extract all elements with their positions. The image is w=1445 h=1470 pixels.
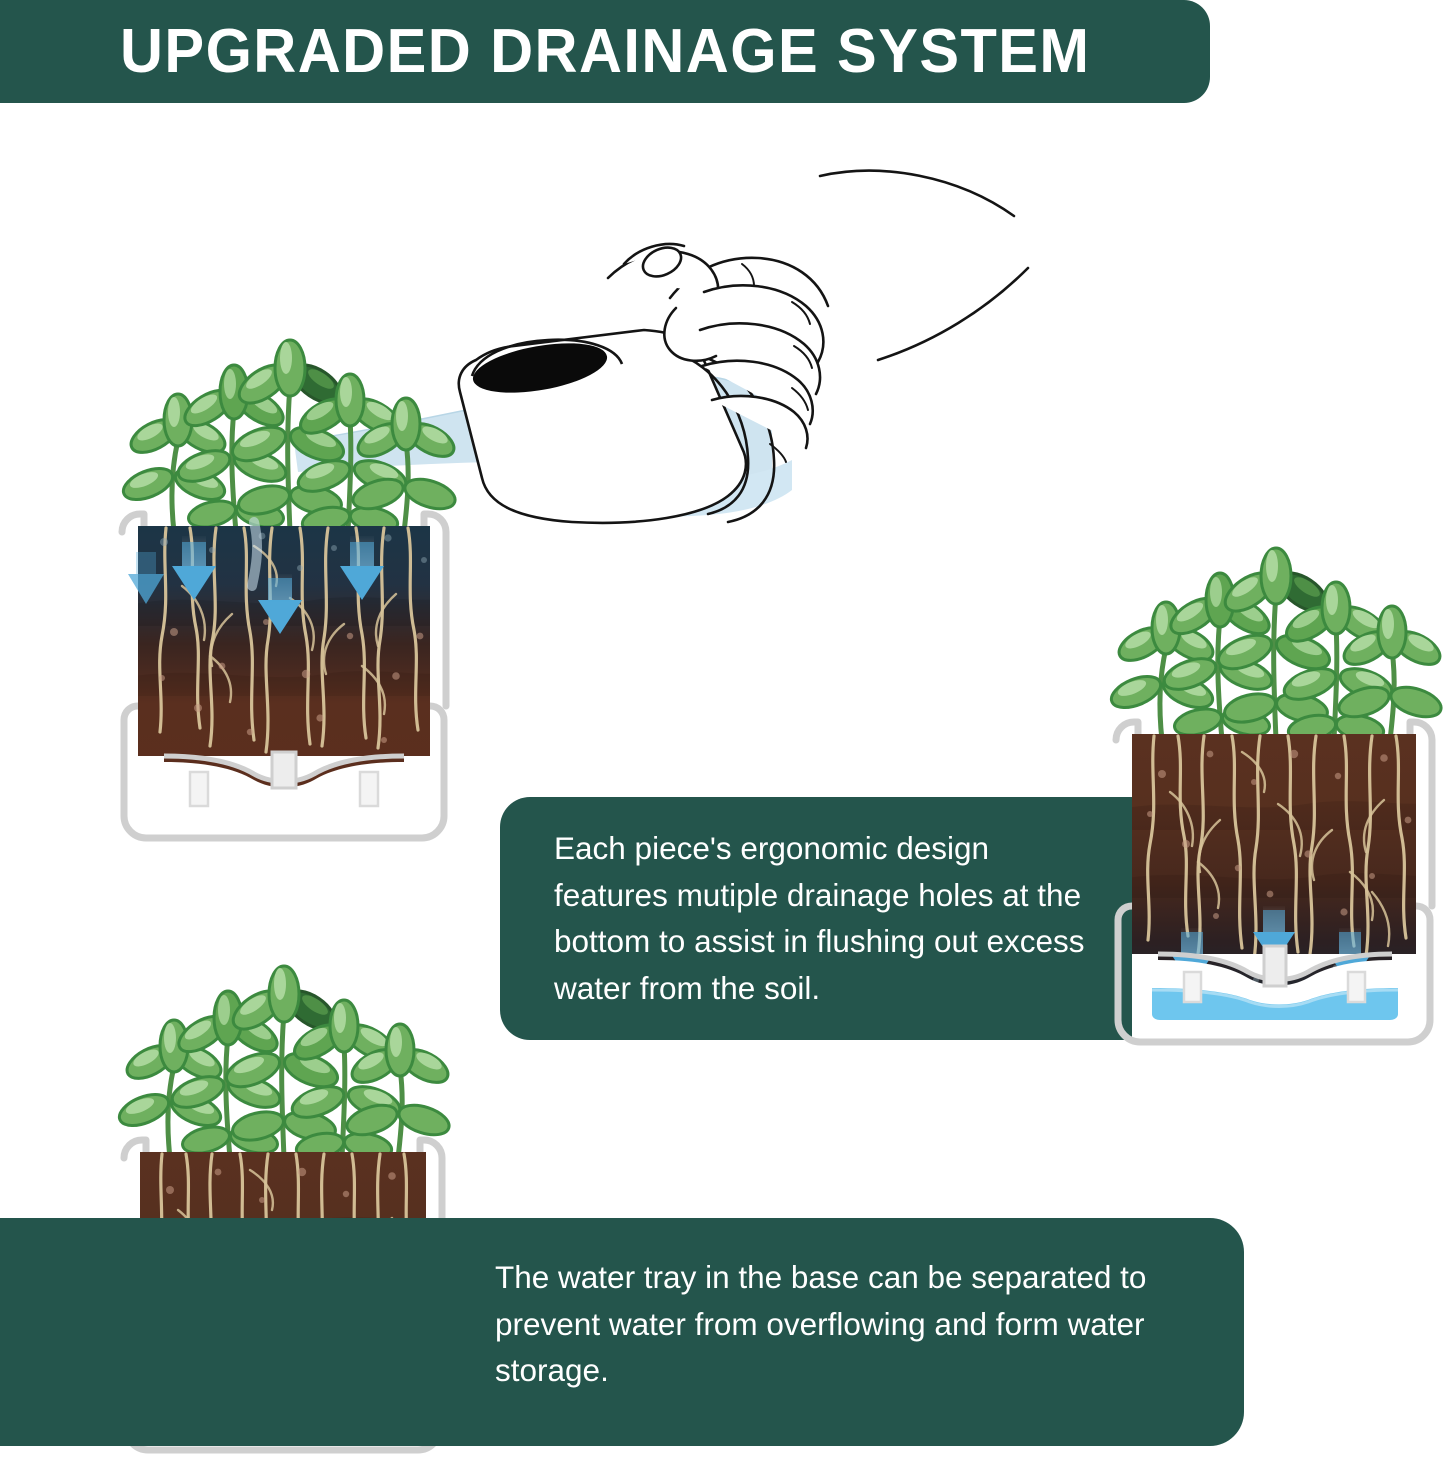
base-tray xyxy=(164,752,404,806)
infographic-page: UPGRADED DRAINAGE SYSTEM xyxy=(0,0,1445,1470)
succulent-plant xyxy=(119,340,459,537)
succulent-plant xyxy=(115,966,453,1163)
water-entry xyxy=(252,522,257,586)
planter-top-left xyxy=(104,336,464,866)
title-banner: UPGRADED DRAINAGE SYSTEM xyxy=(0,0,1210,103)
page-title: UPGRADED DRAINAGE SYSTEM xyxy=(120,21,1090,83)
callout-drainage-holes: Each piece's ergonomic design features m… xyxy=(500,797,1132,1040)
planter-right xyxy=(1096,548,1445,1073)
base-tray-with-water xyxy=(1152,946,1398,1020)
callout-1-text: Each piece's ergonomic design features m… xyxy=(554,825,1098,1011)
succulent-plant xyxy=(1107,548,1445,745)
callout-2-text: The water tray in the base can be separa… xyxy=(495,1254,1204,1394)
callout-water-tray: The water tray in the base can be separa… xyxy=(0,1218,1244,1446)
